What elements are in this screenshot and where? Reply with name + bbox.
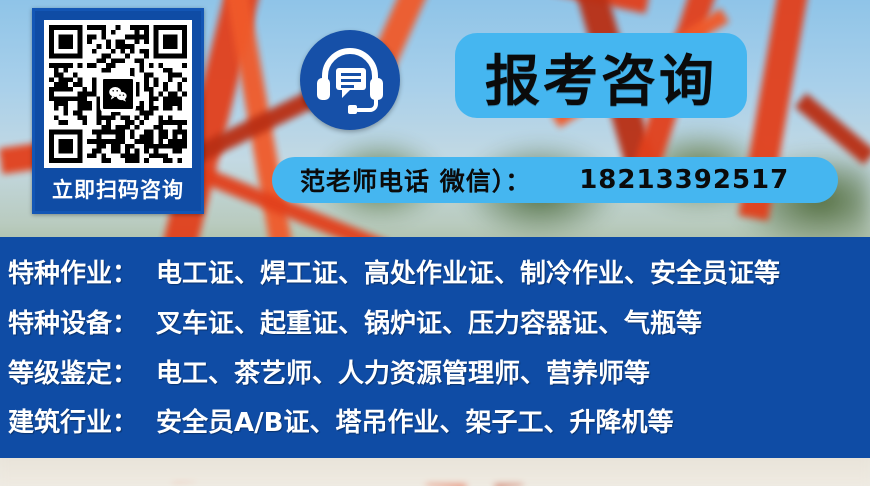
category-list-panel: 特种作业： 电工证、焊工证、高处作业证、制冷作业、安全员证等 特种设备： 叉车证…	[0, 237, 870, 458]
qr-code-card[interactable]: 立即扫码咨询	[32, 8, 204, 214]
qr-code-image	[44, 20, 192, 168]
category-name: 建筑行业：	[8, 402, 138, 439]
wechat-icon	[100, 76, 136, 112]
category-items: 电工、茶艺师、人力资源管理师、营养师等	[156, 353, 650, 390]
page-title: 报考咨询	[455, 33, 747, 118]
category-name: 特种作业：	[8, 253, 138, 290]
list-item: 建筑行业： 安全员A/B证、塔吊作业、架子工、升降机等	[8, 402, 673, 439]
contact-label: 范老师电话 微信）：	[300, 162, 531, 198]
list-item: 特种设备： 叉车证、起重证、锅炉证、压力容器证、气瓶等	[8, 303, 702, 340]
category-name: 特种设备：	[8, 303, 138, 340]
category-items: 电工证、焊工证、高处作业证、制冷作业、安全员证等	[156, 253, 780, 290]
category-name: 等级鉴定：	[8, 353, 138, 390]
contact-pill[interactable]: 范老师电话 微信）： 18213392517	[272, 157, 838, 203]
list-item: 特种作业： 电工证、焊工证、高处作业证、制冷作业、安全员证等	[8, 253, 780, 290]
contact-phone-number[interactable]: 18213392517	[579, 165, 789, 195]
category-items: 安全员A/B证、塔吊作业、架子工、升降机等	[156, 402, 673, 439]
qr-caption: 立即扫码咨询	[35, 174, 201, 204]
category-items: 叉车证、起重证、锅炉证、压力容器证、气瓶等	[156, 303, 702, 340]
promo-poster: 立即扫码咨询 报考咨询 范老师电话 微信）： 18213392517 特种作业：…	[0, 0, 870, 486]
headset-support-icon	[300, 30, 400, 130]
list-item: 等级鉴定： 电工、茶艺师、人力资源管理师、营养师等	[8, 353, 650, 390]
